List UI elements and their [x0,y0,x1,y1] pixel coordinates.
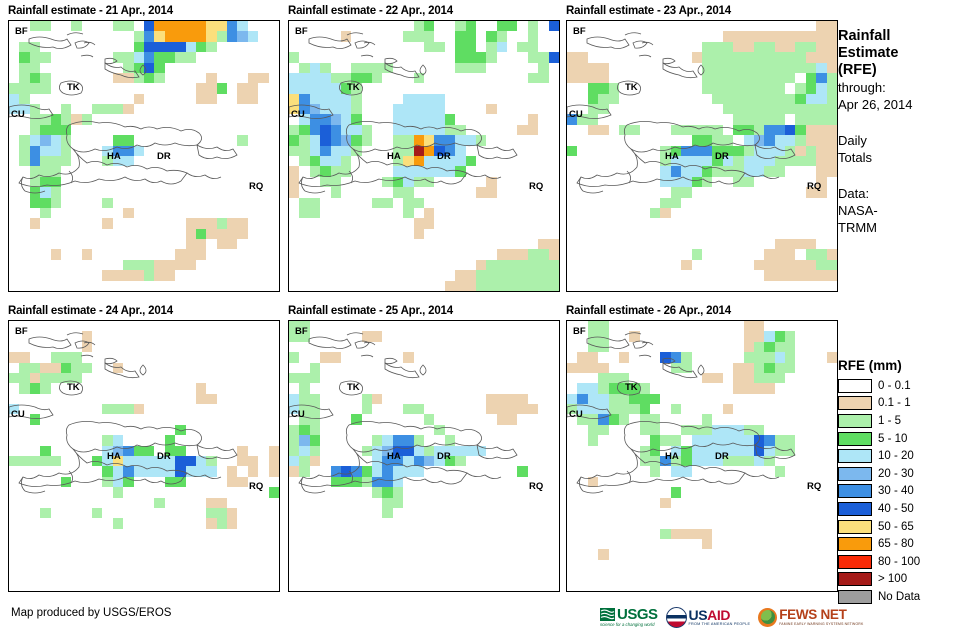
map-label-cu: CU [11,410,25,420]
legend-swatch [838,572,872,586]
map-canvas-22apr[interactable]: BF TK CU HA DR RQ [288,20,560,292]
usgs-wave-icon [600,608,615,621]
rfe-grid [9,21,279,291]
period-line-1: Daily [838,133,968,149]
title-line-2: Estimate [838,45,968,62]
legend-label: 0 - 0.1 [878,380,911,392]
legend: RFE (mm) 0 - 0.10.1 - 11 - 55 - 1010 - 2… [838,358,968,606]
legend-label: 5 - 10 [878,433,907,445]
panel-title: Rainfall estimate - 23 Apr., 2014 [566,4,838,18]
legend-label: 20 - 30 [878,468,914,480]
legend-swatch [838,379,872,393]
map-label-tk: TK [347,83,360,93]
map-label-tk: TK [625,83,638,93]
map-label-rq: RQ [249,182,263,192]
map-label-ha: HA [387,452,401,462]
map-label-cu: CU [569,410,583,420]
panel-title: Rainfall estimate - 22 Apr., 2014 [288,4,560,18]
map-canvas-23apr[interactable]: BF TK CU HA DR RQ [566,20,838,292]
data-source-line-2: TRMM [838,220,968,236]
legend-item: 10 - 20 [838,447,968,465]
map-canvas-25apr[interactable]: BF TK CU HA DR RQ [288,320,560,592]
legend-item: 0 - 0.1 [838,377,968,395]
map-label-bf: BF [15,327,28,337]
legend-swatch [838,414,872,428]
fews-wordmark: FEWS NET [779,608,863,622]
legend-swatch [838,396,872,410]
legend-swatch [838,520,872,534]
legend-swatch [838,590,872,604]
map-label-dr: DR [157,152,171,162]
map-label-dr: DR [437,152,451,162]
panel-title: Rainfall estimate - 21 Apr., 2014 [8,4,280,18]
legend-label: 65 - 80 [878,538,914,550]
rfe-grid [289,21,559,291]
map-label-ha: HA [107,152,121,162]
title-line-3: (RFE) [838,62,968,79]
panel-23apr: Rainfall estimate - 23 Apr., 2014 [566,4,838,292]
legend-item: 40 - 50 [838,500,968,518]
legend-swatch [838,537,872,551]
usaid-wordmark-us: US [689,607,708,623]
usaid-tagline: FROM THE AMERICAN PEOPLE [689,622,751,627]
map-label-tk: TK [67,83,80,93]
data-source-label: Data: [838,186,968,202]
legend-item: 80 - 100 [838,553,968,571]
usaid-wordmark-aid: AID [707,607,730,623]
legend-label: No Data [878,591,920,603]
map-label-cu: CU [569,110,583,120]
map-canvas-26apr[interactable]: BF TK CU HA DR RQ [566,320,838,592]
usaid-seal-icon [666,607,687,628]
legend-label: > 100 [878,573,907,585]
legend-item: 65 - 80 [838,535,968,553]
data-source-line-1: NASA- [838,203,968,219]
map-canvas-24apr[interactable]: BF TK CU HA DR RQ [8,320,280,592]
legend-item: 30 - 40 [838,483,968,501]
map-label-dr: DR [157,452,171,462]
legend-title: RFE (mm) [838,358,968,373]
map-label-rq: RQ [529,482,543,492]
legend-label: 1 - 5 [878,415,901,427]
panel-22apr: Rainfall estimate - 22 Apr., 2014 [288,4,560,292]
legend-item: 0.1 - 1 [838,395,968,413]
map-label-rq: RQ [807,182,821,192]
panel-title: Rainfall estimate - 25 Apr., 2014 [288,304,560,318]
logo-bar: USGS science for a changing world USAID … [600,604,863,630]
map-canvas-21apr[interactable]: BF TK CU HA DR RQ [8,20,280,292]
legend-swatch [838,467,872,481]
legend-label: 40 - 50 [878,503,914,515]
legend-item: 20 - 30 [838,465,968,483]
map-label-ha: HA [665,452,679,462]
map-label-rq: RQ [529,182,543,192]
rfe-grid [567,21,837,291]
rfe-grid [567,321,837,591]
panel-26apr: Rainfall estimate - 26 Apr., 2014 [566,304,838,592]
map-label-cu: CU [11,110,25,120]
map-figure: Rainfall estimate - 21 Apr., 2014 [0,0,970,635]
usgs-logo[interactable]: USGS science for a changing world [600,604,658,630]
map-label-ha: HA [107,452,121,462]
legend-swatch [838,502,872,516]
map-label-dr: DR [715,452,729,462]
panel-title: Rainfall estimate - 24 Apr., 2014 [8,304,280,318]
rfe-grid [289,321,559,591]
map-label-tk: TK [347,383,360,393]
legend-swatch [838,555,872,569]
legend-label: 80 - 100 [878,556,920,568]
through-date: Apr 26, 2014 [838,97,968,113]
legend-label: 10 - 20 [878,450,914,462]
fews-net-logo[interactable]: FEWS NET FAMINE EARLY WARNING SYSTEMS NE… [758,604,863,630]
panel-21apr: Rainfall estimate - 21 Apr., 2014 [8,4,280,292]
legend-swatch [838,484,872,498]
rfe-grid [9,321,279,591]
legend-item: 5 - 10 [838,430,968,448]
legend-label: 50 - 65 [878,521,914,533]
map-label-bf: BF [573,327,586,337]
legend-item: > 100 [838,571,968,589]
usaid-logo[interactable]: USAID FROM THE AMERICAN PEOPLE [666,604,751,630]
map-label-bf: BF [295,27,308,37]
map-label-tk: TK [625,383,638,393]
map-label-ha: HA [387,152,401,162]
panel-title: Rainfall estimate - 26 Apr., 2014 [566,304,838,318]
usgs-tagline: science for a changing world [600,622,658,627]
legend-label: 0.1 - 1 [878,397,911,409]
map-label-rq: RQ [807,482,821,492]
legend-swatch [838,449,872,463]
map-label-dr: DR [715,152,729,162]
map-label-tk: TK [67,383,80,393]
panel-24apr: Rainfall estimate - 24 Apr., 2014 [8,304,280,592]
legend-rows: 0 - 0.10.1 - 11 - 55 - 1010 - 2020 - 303… [838,377,968,606]
usgs-wordmark: USGS [617,607,658,622]
map-credit: Map produced by USGS/EROS [11,607,171,619]
map-label-bf: BF [573,27,586,37]
map-label-cu: CU [291,410,305,420]
legend-item: 50 - 65 [838,518,968,536]
figure-title-block: Rainfall Estimate (RFE) through: Apr 26,… [838,28,968,236]
period-line-2: Totals [838,150,968,166]
legend-item: 1 - 5 [838,412,968,430]
map-label-ha: HA [665,152,679,162]
title-line-1: Rainfall [838,28,968,45]
legend-label: 30 - 40 [878,485,914,497]
panel-25apr: Rainfall estimate - 25 Apr., 2014 [288,304,560,592]
legend-swatch [838,432,872,446]
map-label-cu: CU [291,110,305,120]
map-label-bf: BF [15,27,28,37]
through-label: through: [838,80,968,96]
map-label-bf: BF [295,327,308,337]
map-label-dr: DR [437,452,451,462]
fews-tagline: FAMINE EARLY WARNING SYSTEMS NETWORK [779,622,863,626]
map-label-rq: RQ [249,482,263,492]
fews-globe-icon [758,608,777,627]
